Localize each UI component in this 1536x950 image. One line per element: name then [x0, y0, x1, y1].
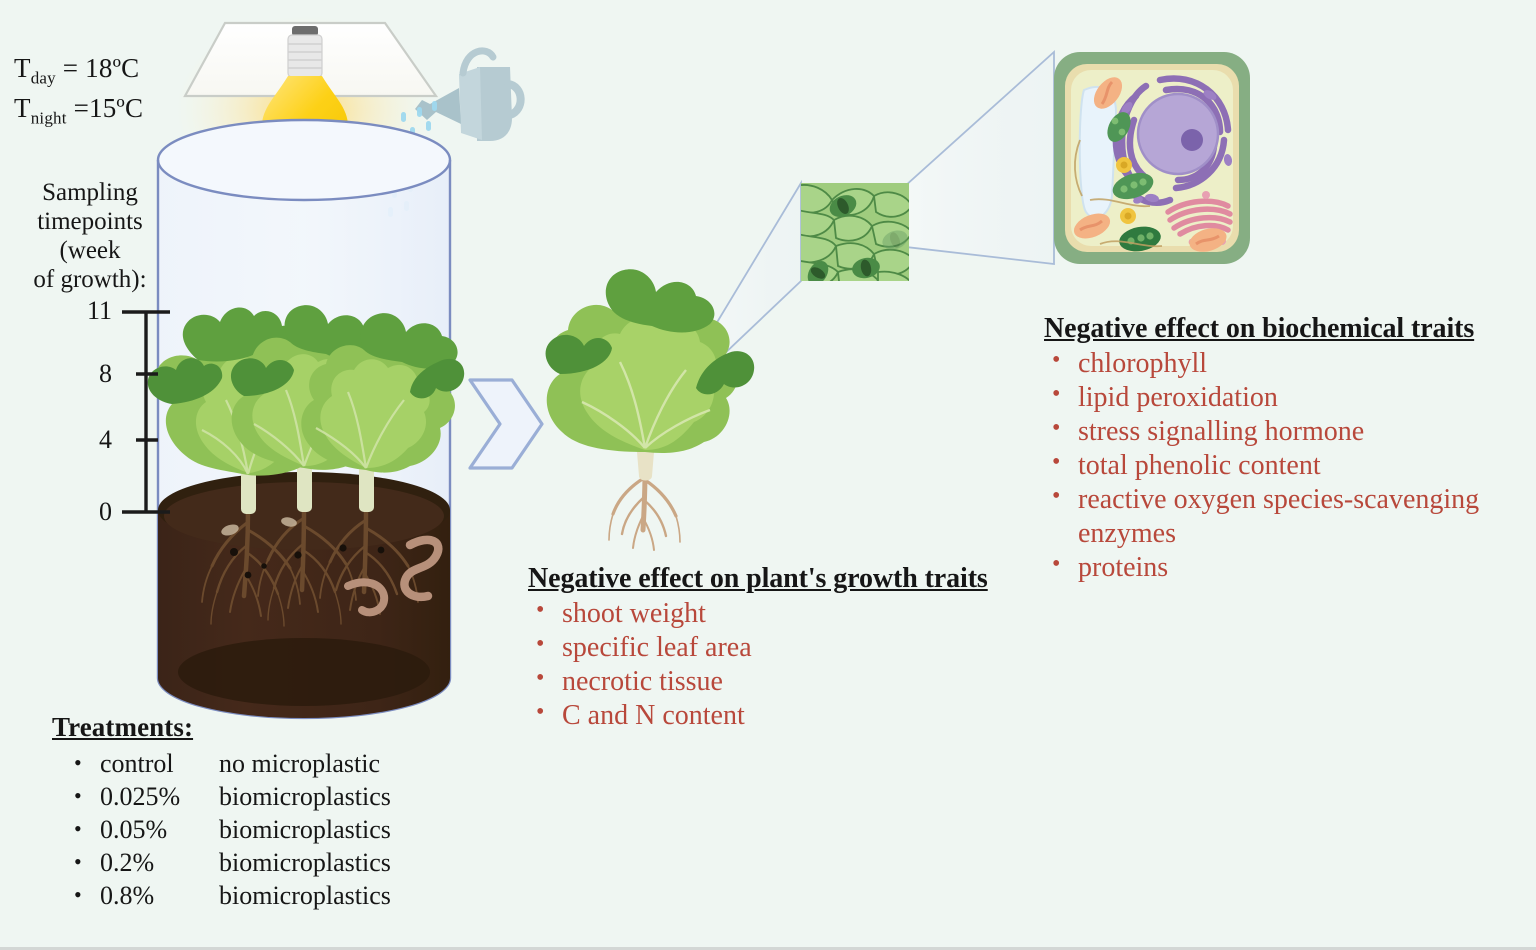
treatment-material: biomicroplastics [219, 846, 391, 879]
biochemical-effects-block: Negative effect on biochemical traits ch… [1044, 313, 1508, 585]
treatment-row: • 0.2% biomicroplastics [74, 846, 391, 879]
sampling-label-line-4: of growth): [10, 265, 170, 294]
bullet-icon: • [74, 846, 100, 879]
treatments-block: Treatments: • control no microplastic • … [52, 712, 391, 912]
timeline-tick-4: 4 [72, 425, 112, 455]
biochemical-effect-item: chlorophyll [1044, 347, 1508, 381]
treatment-material: biomicroplastics [219, 780, 391, 813]
growth-effect-item: shoot weight [528, 597, 988, 631]
treatment-row: • 0.025% biomicroplastics [74, 780, 391, 813]
biochemical-effect-item: lipid peroxidation [1044, 381, 1508, 415]
graphical-abstract: Tday = 18ºC Tnight =15ºC Sampling timepo… [0, 0, 1536, 950]
biochemical-effects-heading: Negative effect on biochemical traits [1044, 313, 1508, 345]
biochemical-effect-item: reactive oxygen species-scavenging enzym… [1044, 483, 1508, 551]
sampling-timepoints-label: Sampling timepoints (week of growth): [10, 178, 170, 294]
timeline-tick-0: 0 [72, 497, 112, 527]
treatment-dose: 0.2% [100, 846, 219, 879]
biochemical-effects-list: chlorophyll lipid peroxidation stress si… [1044, 347, 1508, 585]
leaf-tissue-inset [795, 183, 914, 293]
treatment-material: biomicroplastics [219, 813, 391, 846]
bullet-icon: • [74, 747, 100, 780]
treatment-row: • 0.05% biomicroplastics [74, 813, 391, 846]
peroxisome [1116, 157, 1132, 173]
growth-effect-item: C and N content [528, 699, 988, 733]
growth-effects-list: shoot weight specific leaf area necrotic… [528, 597, 988, 733]
day-temp-value: = 18ºC [56, 53, 140, 83]
bullet-icon: • [74, 780, 100, 813]
nucleus [1138, 94, 1218, 174]
treatment-dose: 0.8% [100, 879, 219, 912]
growth-effect-item: necrotic tissue [528, 665, 988, 699]
treatment-dose: 0.05% [100, 813, 219, 846]
day-temperature: Tday = 18ºC [14, 50, 143, 90]
night-temperature: Tnight =15ºC [14, 90, 143, 130]
sampling-label-line-3: (week [10, 236, 170, 265]
plant-cell-diagram [1054, 52, 1250, 264]
growth-effects-block: Negative effect on plant's growth traits… [528, 563, 988, 733]
sampling-label-line-1: Sampling [10, 178, 170, 207]
timeline-tick-11: 11 [72, 296, 112, 326]
treatments-heading: Treatments: [52, 712, 391, 743]
nucleolus [1181, 129, 1203, 151]
treatment-dose: control [100, 747, 219, 780]
harvested-roots [609, 470, 680, 550]
night-temp-symbol: T [14, 93, 31, 123]
treatment-row: • control no microplastic [74, 747, 391, 780]
biochemical-effect-item: stress signalling hormone [1044, 415, 1508, 449]
biochemical-effect-item: total phenolic content [1044, 449, 1508, 483]
timeline-tick-8: 8 [72, 359, 112, 389]
treatment-dose: 0.025% [100, 780, 219, 813]
chevron-right-icon [470, 380, 542, 468]
day-temp-subscript: day [31, 68, 56, 87]
bullet-icon: • [74, 879, 100, 912]
day-temp-symbol: T [14, 53, 31, 83]
sampling-label-line-2: timepoints [10, 207, 170, 236]
treatments-table: • control no microplastic • 0.025% biomi… [74, 747, 391, 912]
biochemical-effect-item: proteins [1044, 551, 1508, 585]
growth-effects-heading: Negative effect on plant's growth traits [528, 563, 988, 595]
night-temp-subscript: night [31, 108, 67, 127]
growth-effect-item: specific leaf area [528, 631, 988, 665]
treatment-material: no microplastic [219, 747, 391, 780]
bullet-icon: • [74, 813, 100, 846]
temperature-conditions: Tday = 18ºC Tnight =15ºC [14, 50, 143, 130]
peroxisome [1120, 208, 1136, 224]
treatment-material: biomicroplastics [219, 879, 391, 912]
treatment-row: • 0.8% biomicroplastics [74, 879, 391, 912]
night-temp-value: =15ºC [67, 93, 144, 123]
